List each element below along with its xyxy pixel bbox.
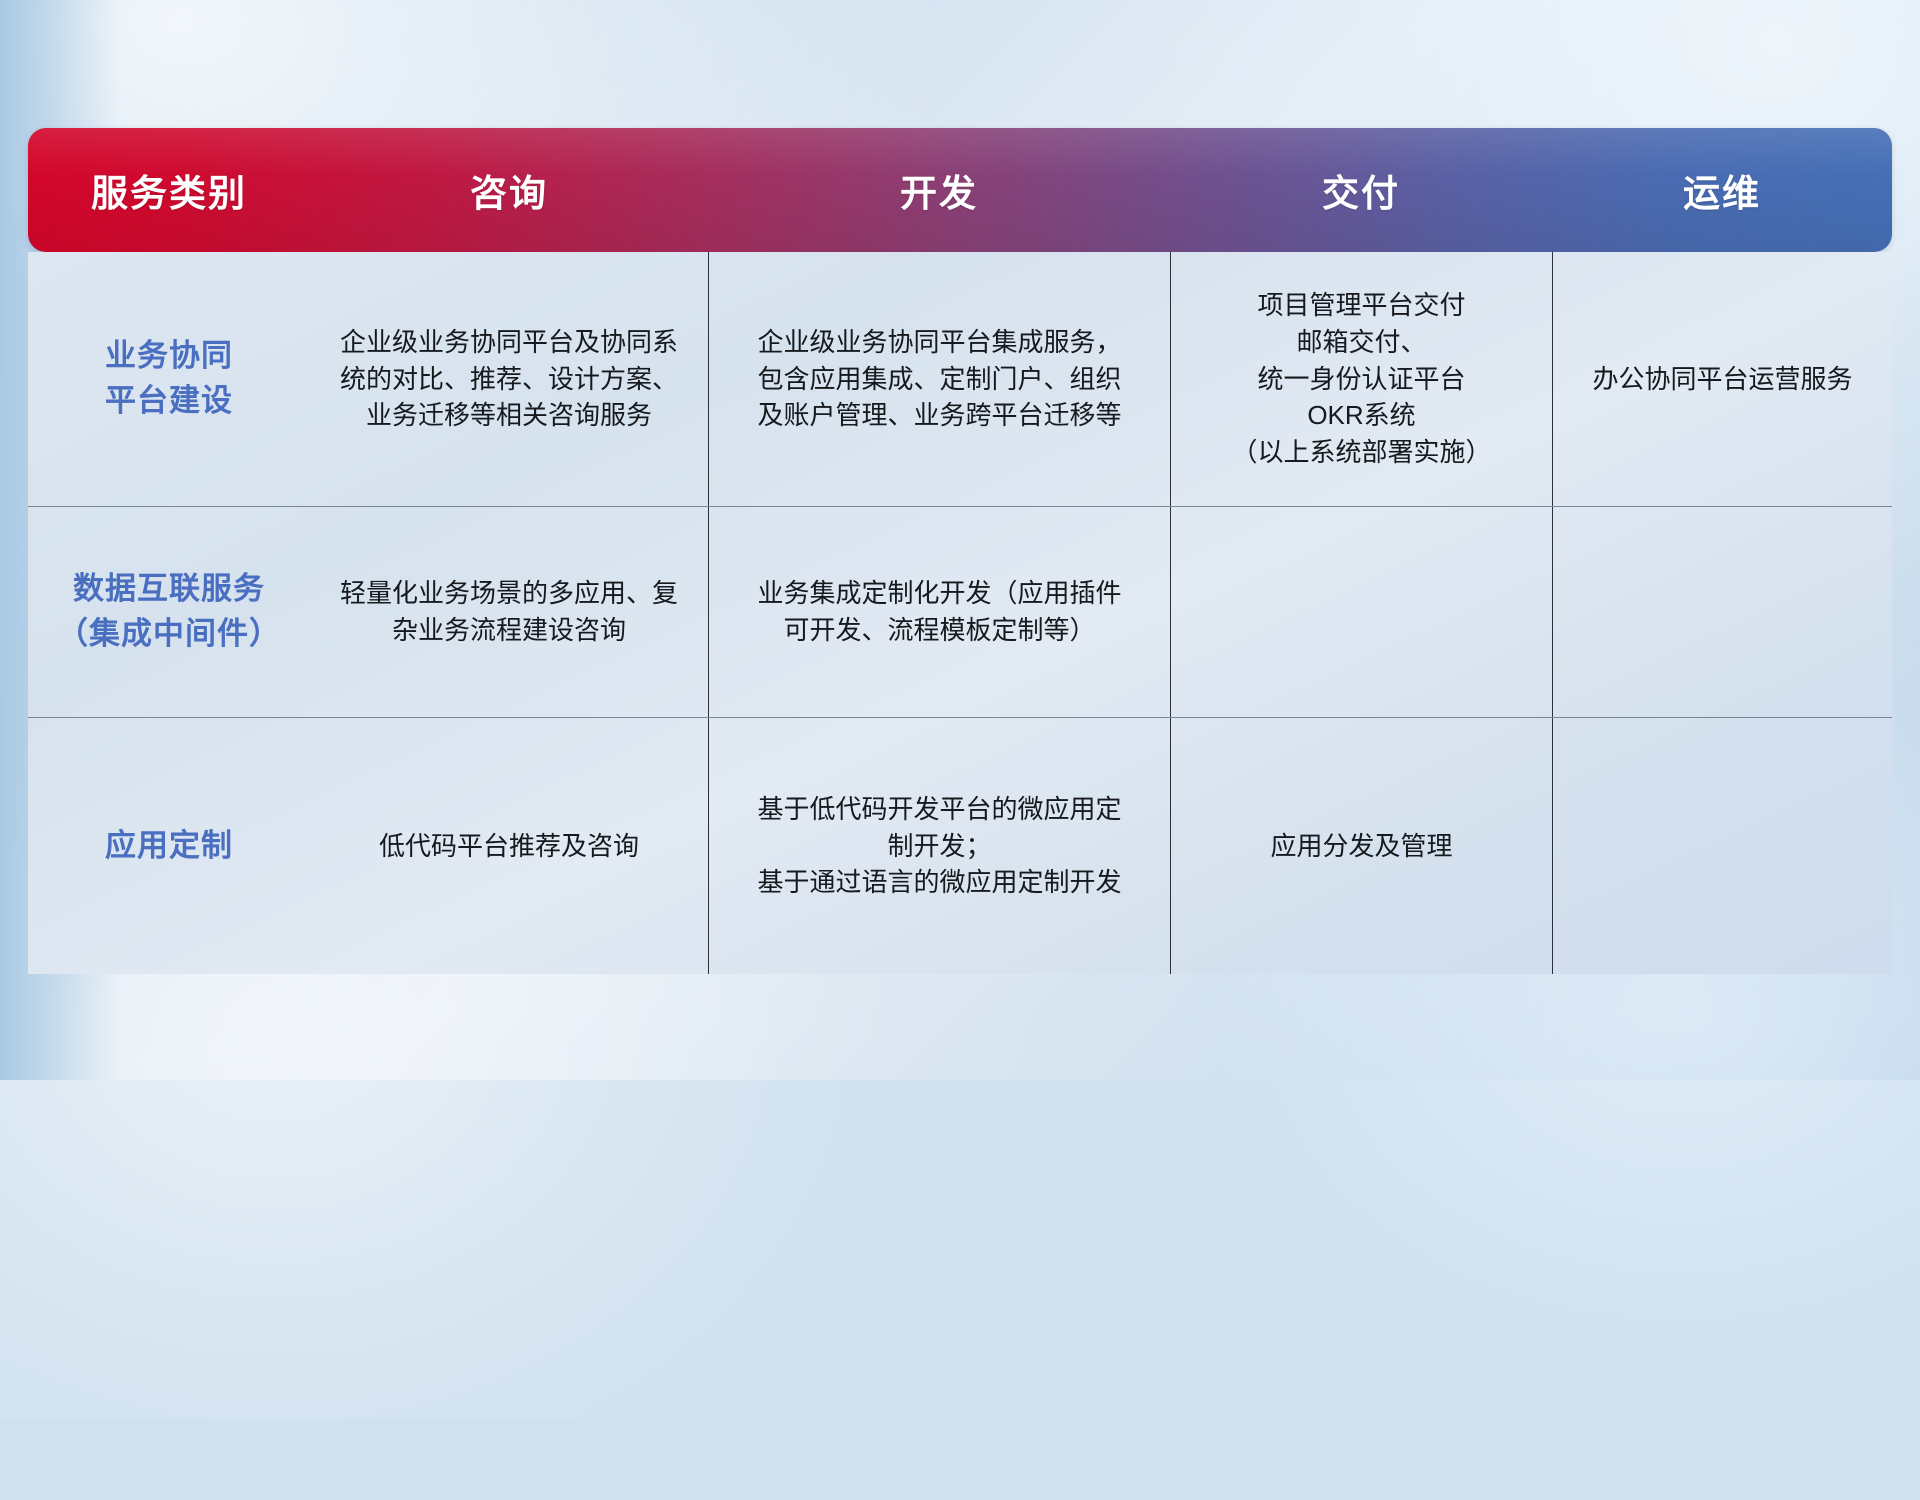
cell-category: 数据互联服务 （集成中间件）	[28, 507, 310, 717]
column-header-delivery: 交付	[1170, 128, 1552, 252]
table-row: 应用定制 低代码平台推荐及咨询 基于低代码开发平台的微应用定 制开发； 基于通过…	[28, 717, 1892, 974]
table-row: 数据互联服务 （集成中间件） 轻量化业务场景的多应用、复 杂业务流程建设咨询 业…	[28, 506, 1892, 717]
cell-delivery	[1170, 507, 1552, 717]
cell-consulting: 低代码平台推荐及咨询	[310, 718, 708, 974]
cell-category: 业务协同 平台建设	[28, 252, 310, 506]
column-header-operations: 运维	[1552, 128, 1892, 252]
cell-development: 业务集成定制化开发（应用插件 可开发、流程模板定制等）	[708, 507, 1170, 717]
cell-consulting: 轻量化业务场景的多应用、复 杂业务流程建设咨询	[310, 507, 708, 717]
cell-delivery: 项目管理平台交付 邮箱交付、 统一身份认证平台 OKR系统 （以上系统部署实施）	[1170, 252, 1552, 506]
cell-delivery: 应用分发及管理	[1170, 718, 1552, 974]
cell-development: 基于低代码开发平台的微应用定 制开发； 基于通过语言的微应用定制开发	[708, 718, 1170, 974]
cell-operations	[1552, 507, 1892, 717]
table-body: 业务协同 平台建设 企业级业务协同平台及协同系 统的对比、推荐、设计方案、 业务…	[28, 252, 1892, 974]
cell-development: 企业级业务协同平台集成服务， 包含应用集成、定制门户、组织 及账户管理、业务跨平…	[708, 252, 1170, 506]
cell-consulting: 企业级业务协同平台及协同系 统的对比、推荐、设计方案、 业务迁移等相关咨询服务	[310, 252, 708, 506]
services-matrix-table: 服务类别 咨询 开发 交付 运维 业务协同 平台建设 企业级业务协同平台及协同系…	[28, 128, 1892, 974]
column-header-category: 服务类别	[28, 128, 310, 252]
cell-operations: 办公协同平台运营服务	[1552, 252, 1892, 506]
cell-category: 应用定制	[28, 718, 310, 974]
table-row: 业务协同 平台建设 企业级业务协同平台及协同系 统的对比、推荐、设计方案、 业务…	[28, 252, 1892, 506]
cell-operations	[1552, 718, 1892, 974]
column-header-consulting: 咨询	[310, 128, 708, 252]
column-header-development: 开发	[708, 128, 1170, 252]
table-header-row: 服务类别 咨询 开发 交付 运维	[28, 128, 1892, 252]
